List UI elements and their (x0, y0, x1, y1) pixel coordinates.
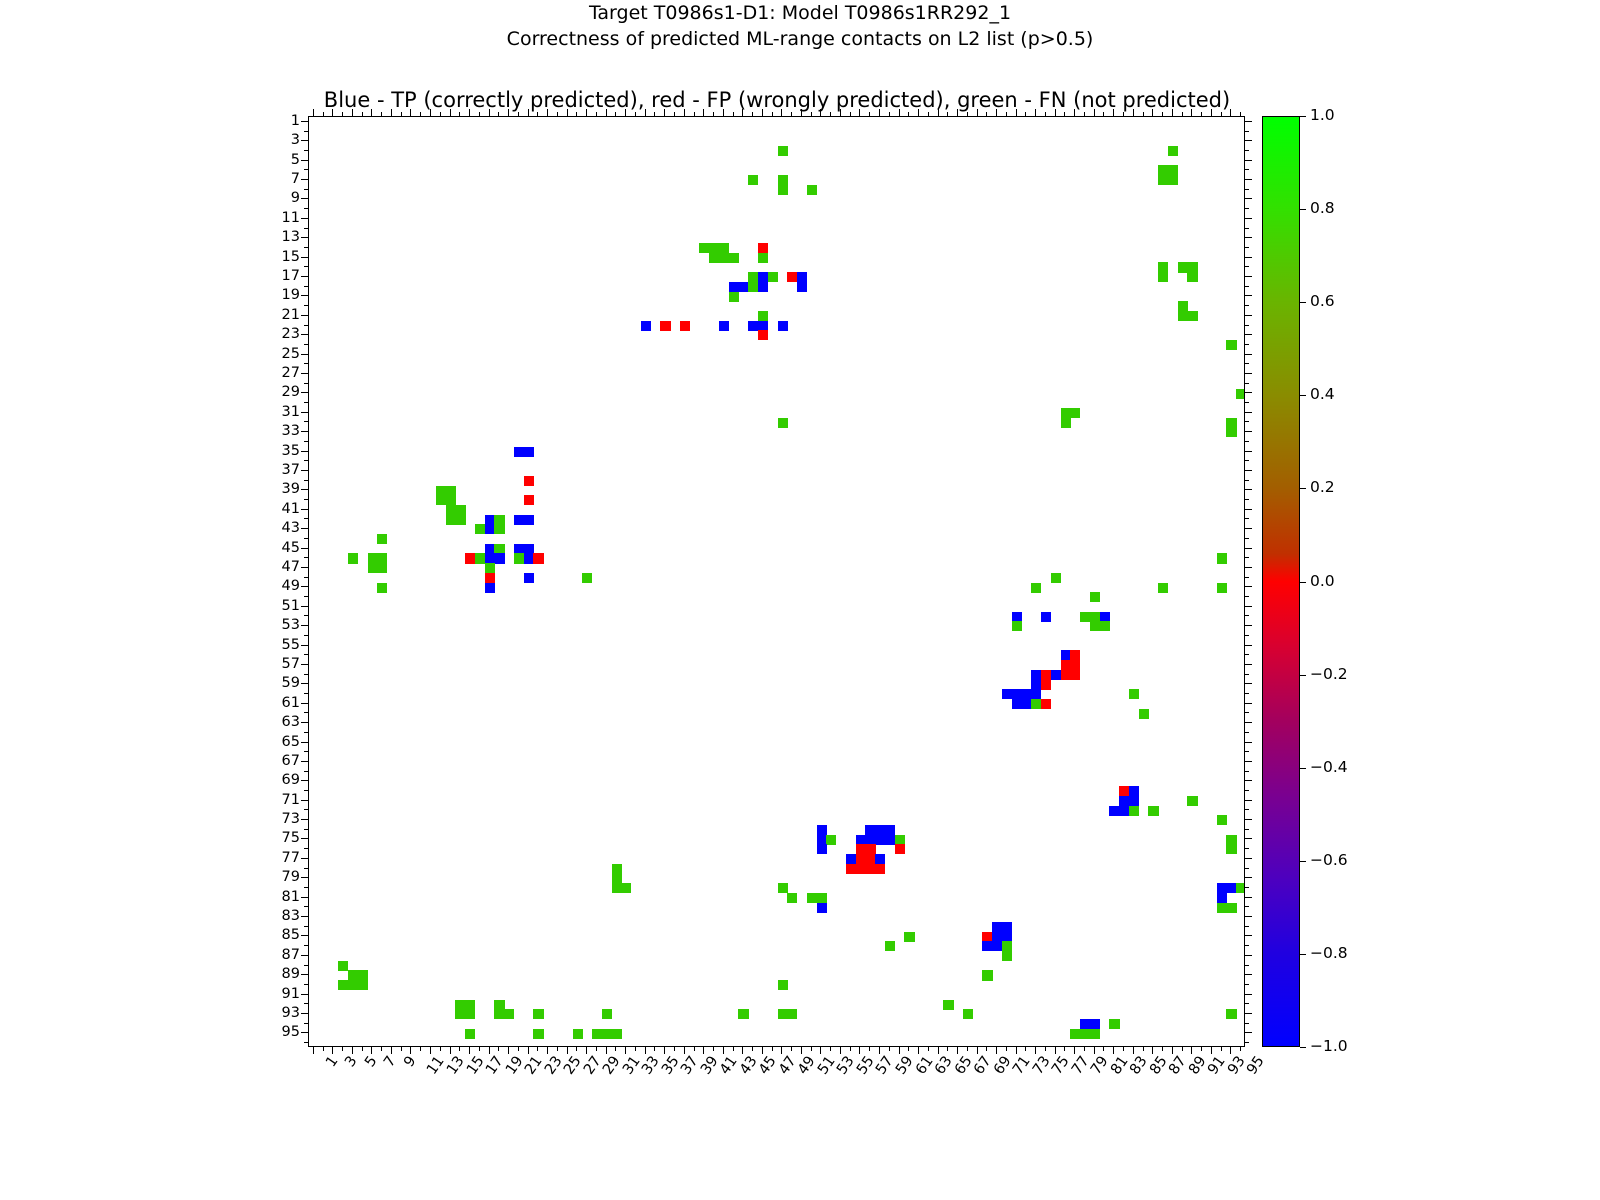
heatmap-cell (1226, 418, 1236, 428)
y-tick-mark (304, 208, 308, 209)
y-tick-mark (301, 703, 308, 704)
y-tick-mark (304, 538, 308, 539)
y-tick-mark (304, 635, 308, 636)
heatmap-cell (758, 243, 768, 253)
y-tick-mark (301, 838, 308, 839)
x-tick-mark-top (664, 109, 665, 116)
heatmap-cell (1158, 175, 1168, 185)
heatmap-cell (709, 243, 719, 253)
heatmap-cell (885, 825, 895, 835)
y-tick-mark-right (1245, 906, 1249, 907)
y-tick-label: 15 (282, 250, 300, 264)
y-tick-label: 87 (282, 948, 300, 962)
y-tick-mark-right (1245, 538, 1249, 539)
y-tick-mark (304, 286, 308, 287)
x-tick-mark-top (879, 109, 880, 116)
x-tick-mark-top (1113, 109, 1114, 116)
y-tick-mark (304, 499, 308, 500)
x-tick-label: 59 (894, 1054, 916, 1077)
heatmap-cell (856, 844, 866, 854)
y-tick-label: 25 (282, 347, 300, 361)
heatmap-cell (465, 1009, 475, 1019)
y-tick-mark (304, 984, 308, 985)
heatmap-cell (485, 563, 495, 573)
heatmap-cell (1139, 709, 1149, 719)
heatmap-cell (602, 1029, 612, 1039)
x-tick-mark-top (313, 109, 314, 116)
y-tick-label: 13 (282, 230, 300, 244)
x-tick-mark-top (450, 109, 451, 116)
heatmap-cell (1226, 340, 1236, 350)
x-tick-mark-top (654, 112, 655, 116)
heatmap-cell (904, 932, 914, 942)
x-tick-mark-top (489, 109, 490, 116)
heatmap-cell (992, 932, 1002, 942)
y-tick-label: 95 (282, 1025, 300, 1039)
y-tick-mark (301, 509, 308, 510)
y-tick-label: 91 (282, 987, 300, 1001)
y-tick-mark-right (1245, 169, 1249, 170)
y-axis-tick-labels: 1357911131517192123252729313335373941434… (254, 116, 300, 1047)
y-tick-mark (304, 383, 308, 384)
y-tick-mark-right (1245, 664, 1252, 665)
heatmap-cell (436, 486, 446, 496)
y-tick-mark-right (1245, 761, 1252, 762)
heatmap-cell (865, 864, 875, 874)
heatmap-cell (797, 272, 807, 282)
x-tick-mark-top (1084, 112, 1085, 116)
y-tick-mark-right (1245, 722, 1252, 723)
y-tick-mark-right (1245, 489, 1252, 490)
heatmap-cell (1168, 146, 1178, 156)
y-tick-mark-right (1245, 935, 1252, 936)
x-tick-label: 15 (464, 1054, 486, 1077)
heatmap-cell (514, 553, 524, 563)
y-tick-label: 43 (282, 521, 300, 535)
y-tick-mark-right (1245, 693, 1249, 694)
heatmap-cell (1070, 1029, 1080, 1039)
y-tick-mark-right (1245, 732, 1249, 733)
x-tick-mark-top (1152, 109, 1153, 116)
y-tick-label: 67 (282, 754, 300, 768)
y-tick-mark (304, 848, 308, 849)
y-tick-mark-right (1245, 373, 1252, 374)
heatmap-cell (758, 272, 768, 282)
x-tick-mark-top (1025, 112, 1026, 116)
x-tick-mark-top (342, 112, 343, 116)
x-tick-mark-top (811, 112, 812, 116)
heatmap-cell (1070, 408, 1080, 418)
x-tick-mark-top (733, 112, 734, 116)
heatmap-cell (377, 583, 387, 593)
heatmap-cell (465, 1000, 475, 1010)
contact-map-plot[interactable] (308, 116, 1245, 1047)
x-tick-mark-top (1133, 109, 1134, 116)
y-tick-label: 73 (282, 812, 300, 826)
y-tick-mark-right (1245, 325, 1249, 326)
x-tick-mark-top (772, 112, 773, 116)
heatmap-cell (748, 175, 758, 185)
y-tick-mark-right (1245, 208, 1249, 209)
heatmap-cell (865, 854, 875, 864)
x-tick-mark-top (420, 112, 421, 116)
x-tick-mark-top (713, 112, 714, 116)
y-tick-mark-right (1245, 354, 1252, 355)
x-tick-mark-top (918, 109, 919, 116)
x-tick-label: 25 (562, 1054, 584, 1077)
y-tick-mark-right (1245, 557, 1249, 558)
heatmap-cell (455, 505, 465, 515)
heatmap-cell (494, 544, 504, 554)
y-tick-mark-right (1245, 926, 1249, 927)
heatmap-cell (778, 883, 788, 893)
y-tick-mark-right (1245, 994, 1252, 995)
y-tick-mark-right (1245, 189, 1249, 190)
x-tick-mark-top (928, 112, 929, 116)
x-tick-mark-top (635, 112, 636, 116)
y-tick-mark (301, 916, 308, 917)
heatmap-cell (758, 253, 768, 263)
heatmap-cell (1109, 1019, 1119, 1029)
heatmap-cell (787, 893, 797, 903)
heatmap-cell (1129, 806, 1139, 816)
heatmap-cell (1217, 583, 1227, 593)
heatmap-cell (856, 854, 866, 864)
x-tick-mark-top (440, 112, 441, 116)
y-tick-mark-right (1245, 237, 1252, 238)
x-tick-label: 23 (542, 1054, 564, 1077)
heatmap-cell (1031, 699, 1041, 709)
x-tick-mark-top (752, 112, 753, 116)
colorbar-tick-mark (1300, 582, 1306, 583)
y-tick-mark (304, 906, 308, 907)
colorbar-tick-label: 0.8 (1310, 201, 1335, 216)
x-tick-label: 81 (1109, 1054, 1131, 1077)
y-tick-mark-right (1245, 344, 1249, 345)
y-tick-mark (304, 829, 308, 830)
heatmap-cell (846, 854, 856, 864)
y-tick-mark (304, 518, 308, 519)
heatmap-cell (524, 573, 534, 583)
heatmap-cell (446, 486, 456, 496)
heatmap-cell (612, 873, 622, 883)
y-tick-mark (301, 994, 308, 995)
heatmap-cell (1109, 806, 1119, 816)
suptitle-line-1: Target T0986s1-D1: Model T0986s1RR292_1 (0, 0, 1600, 26)
heatmap-cell (533, 1029, 543, 1039)
heatmap-cell (1217, 553, 1227, 563)
x-tick-mark-top (606, 109, 607, 116)
x-tick-mark-top (1045, 112, 1046, 116)
x-tick-mark-top (547, 109, 548, 116)
y-tick-mark-right (1245, 1042, 1249, 1043)
heatmap-cell (1061, 670, 1071, 680)
y-tick-mark-right (1245, 586, 1252, 587)
heatmap-cell (494, 515, 504, 525)
x-tick-mark-top (723, 109, 724, 116)
y-tick-mark-right (1245, 305, 1249, 306)
heatmap-cell (1061, 650, 1071, 660)
x-tick-mark-top (840, 109, 841, 116)
y-axis-ticks-right (1245, 116, 1253, 1047)
y-tick-mark-right (1245, 965, 1249, 966)
heatmap-cell (865, 835, 875, 845)
x-tick-mark-top (615, 112, 616, 116)
heatmap-cell (865, 844, 875, 854)
x-tick-label: 39 (699, 1054, 721, 1077)
heatmap-cell (1090, 621, 1100, 631)
heatmap-cell (1070, 650, 1080, 660)
y-tick-mark (301, 354, 308, 355)
y-tick-mark (304, 189, 308, 190)
y-tick-mark (304, 945, 308, 946)
heatmap-cell (738, 1009, 748, 1019)
y-tick-mark (304, 577, 308, 578)
x-tick-label: 49 (796, 1054, 818, 1077)
y-tick-mark (304, 1042, 308, 1043)
x-tick-mark-top (801, 109, 802, 116)
y-tick-mark (304, 266, 308, 267)
heatmap-cell (1070, 670, 1080, 680)
heatmap-cell (602, 1009, 612, 1019)
x-tick-mark-top (1016, 109, 1017, 116)
y-tick-mark (301, 140, 308, 141)
x-tick-label: 31 (621, 1054, 643, 1077)
y-tick-label: 85 (282, 928, 300, 942)
y-tick-mark-right (1245, 131, 1249, 132)
x-tick-mark-top (1006, 112, 1007, 116)
x-tick-label: 9 (402, 1054, 419, 1070)
x-tick-label: 67 (972, 1054, 994, 1077)
y-tick-label: 81 (282, 890, 300, 904)
y-tick-mark (304, 809, 308, 810)
x-tick-label: 37 (679, 1054, 701, 1077)
heatmap-cell (1168, 165, 1178, 175)
heatmap-cell (514, 447, 524, 457)
heatmap-cell (992, 941, 1002, 951)
y-tick-label: 11 (282, 211, 300, 225)
y-tick-mark-right (1245, 809, 1249, 810)
heatmap-cell (1002, 932, 1012, 942)
y-tick-mark-right (1245, 334, 1252, 335)
colorbar-tick-mark (1300, 302, 1306, 303)
y-tick-mark-right (1245, 984, 1249, 985)
x-tick-mark-top (996, 109, 997, 116)
y-tick-mark-right (1245, 858, 1252, 859)
y-tick-mark-right (1245, 955, 1252, 956)
y-tick-mark (301, 567, 308, 568)
y-tick-mark (301, 237, 308, 238)
y-tick-mark (301, 489, 308, 490)
y-tick-mark-right (1245, 179, 1252, 180)
heatmap-cell (1031, 679, 1041, 689)
heatmap-cell (455, 1000, 465, 1010)
y-tick-label: 3 (291, 133, 300, 147)
x-tick-mark-top (410, 109, 411, 116)
heatmap-cell (1012, 699, 1022, 709)
y-tick-label: 27 (282, 366, 300, 380)
y-tick-mark-right (1245, 606, 1252, 607)
y-tick-mark-right (1245, 1003, 1249, 1004)
x-tick-mark-top (1103, 112, 1104, 116)
heatmap-cell (719, 321, 729, 331)
x-tick-mark-top (957, 109, 958, 116)
heatmap-cell (514, 544, 524, 554)
y-tick-mark-right (1245, 509, 1252, 510)
x-tick-label: 83 (1128, 1054, 1150, 1077)
x-tick-mark-top (596, 112, 597, 116)
x-tick-mark-top (1172, 109, 1173, 116)
x-tick-mark-top (459, 112, 460, 116)
y-tick-mark (304, 421, 308, 422)
y-tick-mark (301, 1032, 308, 1033)
y-tick-mark-right (1245, 819, 1252, 820)
heatmap-cell (1080, 1029, 1090, 1039)
x-tick-mark-top (899, 109, 900, 116)
figure-suptitle: Target T0986s1-D1: Model T0986s1RR292_1 … (0, 0, 1600, 52)
x-tick-mark-top (703, 109, 704, 116)
heatmap-cell (465, 553, 475, 563)
heatmap-cell (1012, 612, 1022, 622)
x-tick-label: 73 (1030, 1054, 1052, 1077)
colorbar-tick-label: 1.0 (1310, 108, 1335, 123)
x-tick-mark-top (645, 109, 646, 116)
y-tick-mark (304, 887, 308, 888)
x-tick-mark-top (625, 109, 626, 116)
heatmap-cell (1217, 893, 1227, 903)
y-tick-mark (304, 441, 308, 442)
x-tick-label: 35 (660, 1054, 682, 1077)
heatmap-cell (875, 854, 885, 864)
y-tick-label: 51 (282, 599, 300, 613)
heatmap-cell (1031, 670, 1041, 680)
heatmap-cell (1129, 786, 1139, 796)
heatmap-cell (680, 321, 690, 331)
heatmap-cell (1002, 941, 1012, 951)
x-tick-mark-top (820, 109, 821, 116)
heatmap-cell (1119, 806, 1129, 816)
heatmap-cell (748, 272, 758, 282)
x-tick-mark-top (694, 112, 695, 116)
y-tick-mark (304, 712, 308, 713)
y-tick-label: 59 (282, 676, 300, 690)
x-tick-mark-top (362, 112, 363, 116)
colorbar-tick-mark (1300, 1047, 1306, 1048)
heatmap-cell (1031, 689, 1041, 699)
y-tick-mark (304, 363, 308, 364)
colorbar-tick-label: −0.2 (1310, 667, 1348, 682)
y-tick-label: 5 (291, 153, 300, 167)
heatmap-cell (885, 835, 895, 845)
y-tick-mark (304, 771, 308, 772)
y-tick-mark (304, 402, 308, 403)
x-tick-mark-top (967, 112, 968, 116)
y-tick-mark (301, 198, 308, 199)
y-tick-mark-right (1245, 257, 1252, 258)
y-tick-mark-right (1245, 470, 1252, 471)
x-tick-mark-top (586, 109, 587, 116)
colorbar-tick-mark (1300, 954, 1306, 955)
heatmap-cell (817, 835, 827, 845)
x-tick-label: 77 (1070, 1054, 1092, 1077)
y-tick-label: 31 (282, 405, 300, 419)
heatmap-cell (1236, 883, 1245, 893)
heatmap-cell (1226, 1009, 1236, 1019)
y-tick-mark-right (1245, 897, 1252, 898)
y-tick-mark-right (1245, 198, 1252, 199)
y-tick-mark (301, 528, 308, 529)
y-tick-mark (301, 858, 308, 859)
heatmap-cell (778, 321, 788, 331)
y-tick-mark (301, 218, 308, 219)
heatmap-cell (1129, 796, 1139, 806)
heatmap-cell (758, 311, 768, 321)
y-tick-mark-right (1245, 615, 1249, 616)
x-tick-label: 5 (363, 1054, 380, 1070)
y-tick-mark (304, 868, 308, 869)
heatmap-cell (758, 330, 768, 340)
x-tick-label: 79 (1089, 1054, 1111, 1077)
x-tick-mark-top (401, 112, 402, 116)
y-tick-mark-right (1245, 363, 1249, 364)
x-tick-mark-top (1211, 109, 1212, 116)
y-tick-label: 23 (282, 327, 300, 341)
x-tick-mark-top (1182, 112, 1183, 116)
y-axis-ticks (300, 116, 308, 1047)
x-tick-mark-top (381, 112, 382, 116)
heatmap-cell (1187, 262, 1197, 272)
x-tick-mark-top (830, 112, 831, 116)
x-tick-label: 65 (952, 1054, 974, 1077)
y-tick-mark-right (1245, 790, 1249, 791)
heatmap-cell (1051, 670, 1061, 680)
y-tick-mark-right (1245, 286, 1249, 287)
heatmap-cell (358, 970, 368, 980)
y-tick-mark-right (1245, 596, 1249, 597)
y-tick-mark (304, 751, 308, 752)
y-tick-mark-right (1245, 674, 1249, 675)
y-tick-mark-right (1245, 1023, 1249, 1024)
heatmap-cell (1226, 427, 1236, 437)
y-tick-mark (301, 276, 308, 277)
y-tick-mark-right (1245, 742, 1252, 743)
heatmap-cell (1100, 612, 1110, 622)
x-tick-label: 1 (324, 1054, 341, 1070)
y-tick-mark-right (1245, 635, 1249, 636)
y-tick-label: 49 (282, 579, 300, 593)
x-tick-label: 57 (874, 1054, 896, 1077)
heatmap-cell (778, 175, 788, 185)
contact-map-figure: Target T0986s1-D1: Model T0986s1RR292_1 … (0, 0, 1600, 1200)
heatmap-cell (1041, 679, 1051, 689)
y-tick-mark (304, 732, 308, 733)
heatmap-cell (436, 495, 446, 505)
y-tick-mark (304, 1023, 308, 1024)
y-tick-mark (301, 179, 308, 180)
heatmap-cell (1178, 311, 1188, 321)
y-tick-mark-right (1245, 567, 1252, 568)
y-tick-mark (301, 586, 308, 587)
heatmap-cell (1041, 670, 1051, 680)
heatmap-cell (729, 292, 739, 302)
y-tick-mark-right (1245, 295, 1252, 296)
heatmap-cell (1090, 612, 1100, 622)
y-tick-mark (304, 131, 308, 132)
heatmap-cell (1090, 1019, 1100, 1029)
heatmap-cell (1178, 301, 1188, 311)
x-tick-mark-top (781, 109, 782, 116)
y-tick-mark-right (1245, 228, 1249, 229)
